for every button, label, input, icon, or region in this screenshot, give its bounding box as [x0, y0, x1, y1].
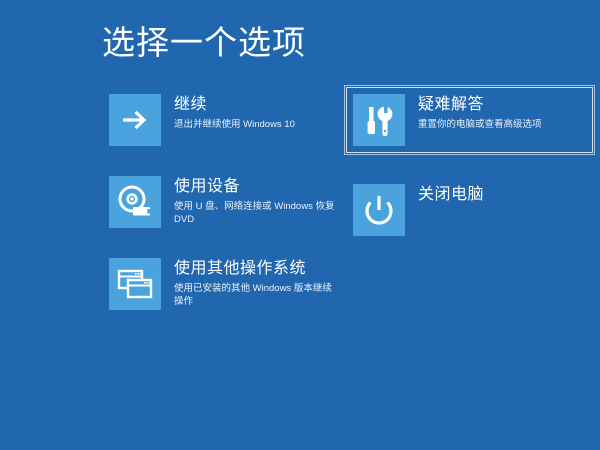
- option-description: 使用已安装的其他 Windows 版本继续操作: [174, 282, 339, 308]
- option-text: 关闭电脑: [418, 184, 484, 208]
- option-troubleshoot[interactable]: 疑难解答 重置你的电脑或查看高级选项: [347, 88, 592, 152]
- option-description: 使用 U 盘、网络连接或 Windows 恢复 DVD: [174, 200, 339, 226]
- options-column-left: 继续 退出并继续使用 Windows 10 使用设备 使用 U 盘、网络连接或 …: [103, 88, 348, 334]
- option-text: 使用其他操作系统 使用已安装的其他 Windows 版本继续操作: [174, 258, 339, 308]
- option-description: 退出并继续使用 Windows 10: [174, 118, 295, 131]
- option-label: 疑难解答: [418, 95, 542, 115]
- arrow-right-icon: [109, 94, 161, 146]
- option-label: 关闭电脑: [418, 185, 484, 205]
- option-text: 使用设备 使用 U 盘、网络连接或 Windows 恢复 DVD: [174, 176, 339, 226]
- boot-options-screen: 选择一个选项 继续 退出并继续使用 Windows 10: [0, 0, 600, 450]
- option-label: 使用其他操作系统: [174, 259, 339, 279]
- windows-stack-icon: [109, 258, 161, 310]
- option-description: 重置你的电脑或查看高级选项: [418, 118, 542, 131]
- power-icon: [353, 184, 405, 236]
- option-text: 疑难解答 重置你的电脑或查看高级选项: [418, 94, 542, 131]
- screwdriver-wrench-icon: [353, 94, 405, 146]
- option-use-a-device[interactable]: 使用设备 使用 U 盘、网络连接或 Windows 恢复 DVD: [103, 170, 348, 234]
- option-text: 继续 退出并继续使用 Windows 10: [174, 94, 295, 131]
- option-continue[interactable]: 继续 退出并继续使用 Windows 10: [103, 88, 348, 152]
- option-label: 使用设备: [174, 177, 339, 197]
- page-title: 选择一个选项: [102, 22, 306, 64]
- option-use-another-operating-system[interactable]: 使用其他操作系统 使用已安装的其他 Windows 版本继续操作: [103, 252, 348, 316]
- option-turn-off-your-pc[interactable]: 关闭电脑: [347, 178, 592, 242]
- disc-usb-icon: [109, 176, 161, 228]
- option-label: 继续: [174, 95, 295, 115]
- options-column-right: 疑难解答 重置你的电脑或查看高级选项 关闭电脑: [347, 88, 592, 268]
